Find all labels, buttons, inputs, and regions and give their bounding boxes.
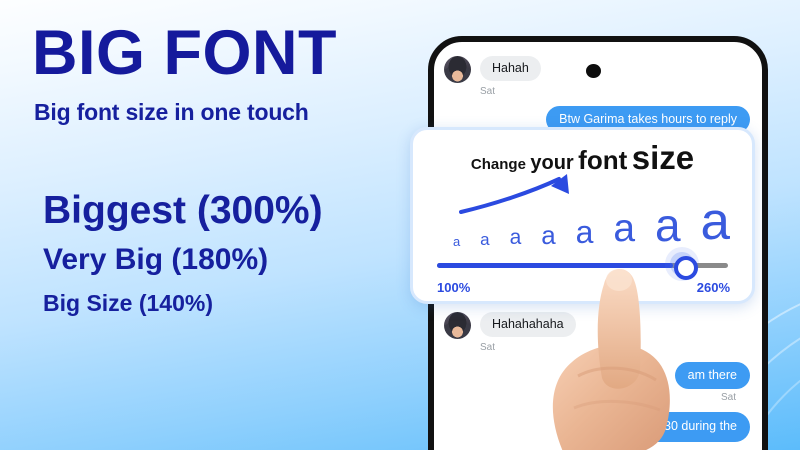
sample-letter-1: a <box>453 235 460 248</box>
message-timestamp: Sat <box>480 342 750 353</box>
sample-letter-6: a <box>613 209 635 248</box>
heading-word-your: your <box>530 152 573 174</box>
message-row-outgoing: I can pro t 1:30 during the <box>444 412 750 442</box>
sample-letter-5: a <box>576 216 594 248</box>
size-option-very-big: Very Big (180%) <box>43 244 420 276</box>
sample-letter-7: a <box>655 202 681 248</box>
slider-max-label: 260% <box>697 280 730 295</box>
message-bubble-incoming: Hahah <box>480 56 541 81</box>
slider-track-fill <box>437 263 673 268</box>
sample-letter-4: a <box>541 222 555 248</box>
card-heading: Change your font size <box>413 141 752 174</box>
heading-word-change: Change <box>471 156 526 173</box>
message-timestamp: Sat <box>480 86 750 97</box>
promo-text-column: BIG FONT Big font size in one touch Bigg… <box>0 0 420 450</box>
size-options-list: Biggest (300%) Very Big (180%) Big Size … <box>0 190 420 315</box>
slider-thumb[interactable] <box>665 247 699 281</box>
font-size-sample-row: a a a a a a a a <box>453 198 730 248</box>
page-title: BIG FONT <box>32 22 337 85</box>
heading-word-size: size <box>632 139 694 176</box>
font-size-card: Change your font size a a a a a a a a <box>410 127 755 304</box>
sample-letter-8: a <box>701 195 730 248</box>
slider-min-label: 100% <box>437 280 470 295</box>
sample-letter-2: a <box>480 231 489 248</box>
avatar <box>444 56 471 83</box>
message-row-incoming: Hahah <box>444 56 750 83</box>
heading-word-font: font <box>578 145 627 175</box>
message-timestamp: Sat <box>444 392 736 403</box>
size-option-biggest: Biggest (300%) <box>43 190 420 232</box>
avatar <box>444 312 471 339</box>
font-size-slider[interactable] <box>437 258 728 272</box>
message-bubble-outgoing: am there <box>675 362 750 389</box>
message-bubble-outgoing: I can pro t 1:30 during the <box>582 412 750 442</box>
page-subtitle: Big font size in one touch <box>34 99 309 126</box>
message-row-incoming: Hahahahaha <box>444 312 750 339</box>
sample-letter-3: a <box>510 227 522 248</box>
promo-banner: BIG FONT Big font size in one touch Bigg… <box>0 0 800 450</box>
message-bubble-incoming: Hahahahaha <box>480 312 576 337</box>
message-row-outgoing: am there <box>444 362 750 389</box>
chat-thread-bottom: Hahahahaha Sat am there Sat I can pro t … <box>434 312 762 442</box>
size-option-big-size: Big Size (140%) <box>43 291 420 316</box>
